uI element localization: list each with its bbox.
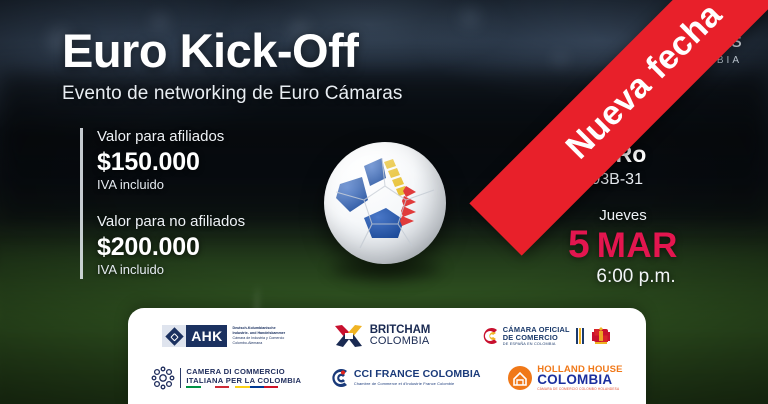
cci-france-line-1: CCI FRANCE COLOMBIA [354, 369, 481, 381]
ahk-badge: AHK [162, 325, 227, 347]
logo-cci-france: CCI FRANCE COLOMBIA Chambre de Commerce … [328, 367, 481, 389]
logo-camara-espana: CÁMARA OFICIAL DE COMERCIO DE ESPAÑA EN … [479, 326, 612, 347]
price-group-non-affiliates: Valor para no afiliados $200.000 IVA inc… [97, 213, 245, 279]
pricing-block: Valor para afiliados $150.000 IVA inclui… [80, 128, 245, 279]
cci-france-mark-icon [328, 367, 350, 389]
spain-coat-of-arms-icon [590, 326, 612, 346]
ball-shadow [330, 262, 442, 278]
date-time: 6:00 p.m. [528, 266, 718, 289]
sponsor-row-2: CAMERA DI COMMERCIO ITALIANA PER LA COLO… [138, 357, 636, 399]
logo-holland-house: HOLLAND HOUSE COLOMBIA CÁMARA DE COMERCI… [507, 365, 622, 391]
ahk-letters: AHK [186, 325, 227, 347]
cci-france-text: CCI FRANCE COLOMBIA Chambre de Commerce … [354, 369, 481, 386]
logo-britcham: BRITCHAM COLOMBIA [334, 323, 431, 349]
price-note: IVA incluido [97, 262, 245, 279]
event-poster: aras MBIA Euro Kick-Off Evento de networ… [0, 0, 768, 404]
camera-italiana-mark-icon [151, 366, 175, 390]
soccer-ball-icon [324, 142, 446, 264]
camara-espana-line-2: DE COMERCIO [503, 334, 570, 342]
britcham-line-2: COLOMBIA [370, 336, 431, 347]
date-day: 5 [568, 225, 590, 264]
sponsor-panel: AHK Deutsch-Kolumbianische Industrie- un… [128, 308, 646, 404]
price-group-affiliates: Valor para afiliados $150.000 IVA inclui… [97, 128, 245, 194]
price-amount: $150.000 [97, 147, 245, 178]
camara-espana-line-3: DE ESPAÑA EN COLOMBIA [503, 342, 570, 346]
holland-house-mark-icon [507, 365, 533, 391]
logo-ahk: AHK Deutsch-Kolumbianische Industrie- un… [162, 325, 285, 347]
holland-house-line-3: CÁMARA DE COMERCIO COLOMBO HOLANDESA [537, 388, 622, 391]
price-label: Valor para afiliados [97, 128, 245, 147]
price-amount: $200.000 [97, 232, 245, 263]
price-note: IVA incluido [97, 177, 245, 194]
logo-camera-italiana: CAMERA DI COMMERCIO ITALIANA PER LA COLO… [151, 366, 301, 390]
event-title: Euro Kick-Off [62, 26, 403, 75]
holland-house-line-2: COLOMBIA [537, 373, 622, 387]
price-label: Valor para no afiliados [97, 213, 245, 232]
cci-france-line-2: Chambre de Commerce et d'Industrie Franc… [354, 382, 481, 386]
britcham-text: BRITCHAM COLOMBIA [370, 325, 431, 348]
ahk-caption-line-4: Colombo-Alemana [232, 341, 285, 346]
spain-bars-icon [576, 328, 584, 344]
camera-italiana-text: CAMERA DI COMMERCIO ITALIANA PER LA COLO… [186, 368, 301, 388]
sponsor-row-1: AHK Deutsch-Kolumbianische Industrie- un… [138, 315, 636, 357]
date-month: MAR [597, 228, 678, 263]
ahk-caption: Deutsch-Kolumbianische Industrie- und Ha… [232, 326, 285, 346]
headline-block: Euro Kick-Off Evento de networking de Eu… [62, 26, 403, 105]
camara-espana-c-icon [479, 326, 499, 346]
italy-divider [180, 368, 181, 388]
event-subtitle: Evento de networking de Euro Cámaras [62, 83, 403, 105]
ahk-diamond-icon [162, 325, 186, 347]
italy-colombia-flag-icon [186, 386, 278, 388]
camera-italiana-line-2: ITALIANA PER LA COLOMBIA [186, 377, 301, 386]
britcham-x-icon [334, 323, 364, 349]
date-main: 5 MAR [528, 225, 718, 264]
holland-house-text: HOLLAND HOUSE COLOMBIA CÁMARA DE COMERCI… [537, 365, 622, 391]
camara-espana-text: CÁMARA OFICIAL DE COMERCIO DE ESPAÑA EN … [503, 326, 570, 347]
